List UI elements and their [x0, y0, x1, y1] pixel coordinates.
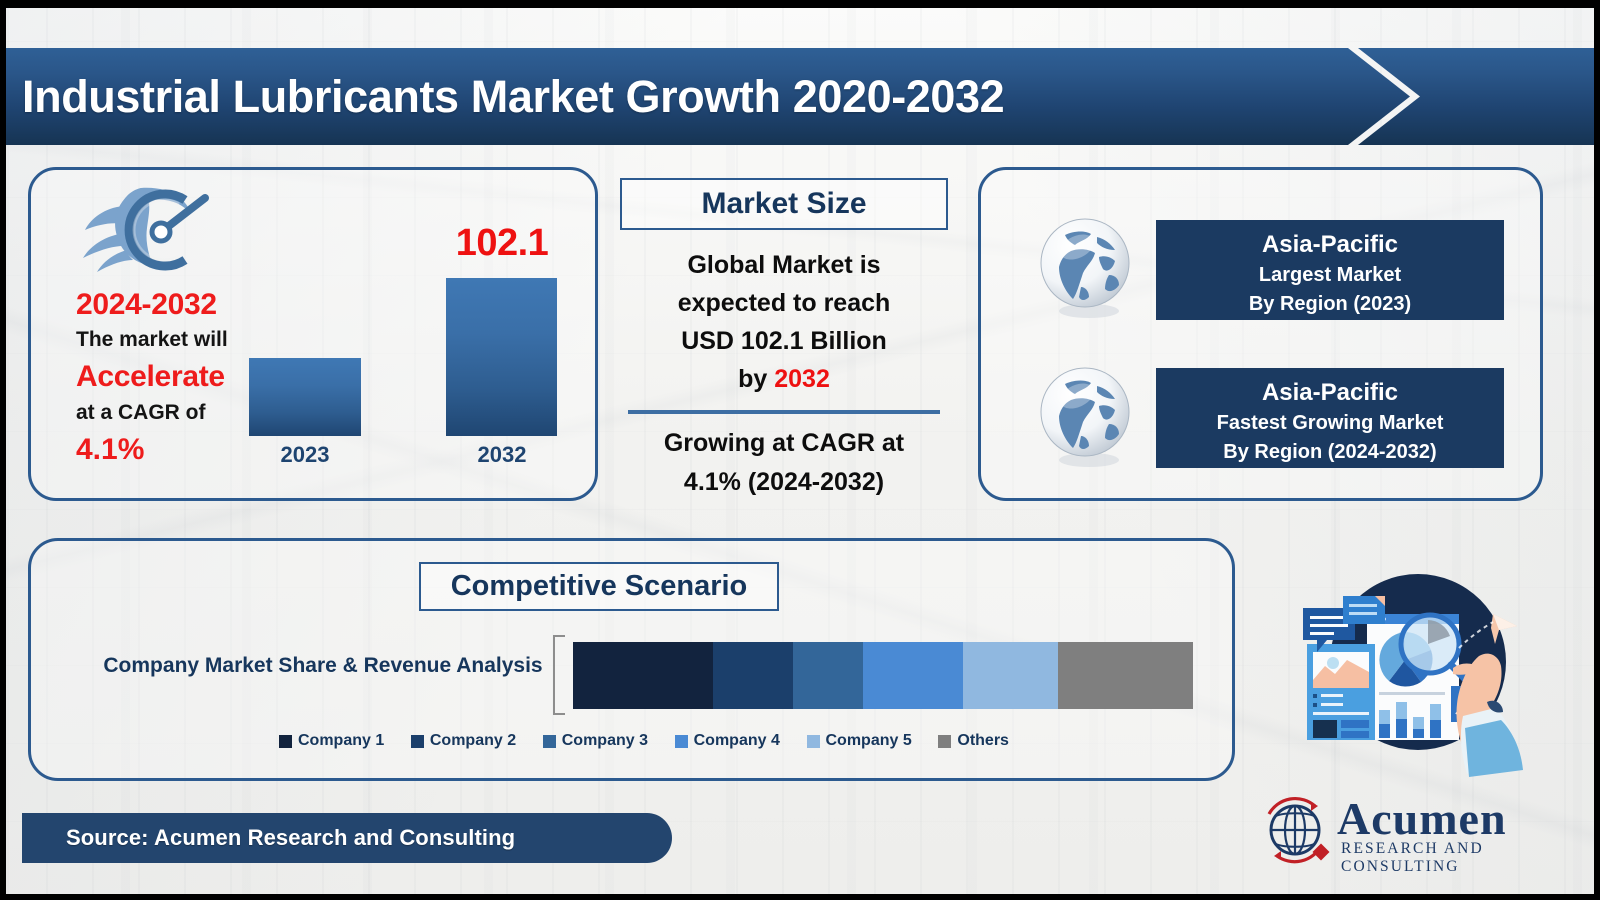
market-size-by-prefix: by	[738, 365, 774, 393]
legend-item: Company 5	[807, 732, 912, 750]
market-size-title-box: Market Size	[620, 178, 948, 230]
region-band-largest: Asia-Pacific Largest Market By Region (2…	[1156, 220, 1504, 320]
growth-cagr-value: 4.1%	[76, 433, 144, 467]
market-size-body: Global Market is expected to reach USD 1…	[620, 246, 948, 398]
market-size-divider	[628, 410, 940, 414]
bar-label-2023: 2023	[246, 442, 364, 468]
legend-item: Others	[938, 732, 1009, 750]
market-share-stacked-bar	[573, 642, 1193, 709]
infographic-root: Industrial Lubricants Market Growth 2020…	[0, 0, 1600, 900]
stack-segment-4	[863, 642, 963, 709]
globe-icon	[1031, 213, 1143, 325]
bar-label-2032: 2032	[443, 442, 561, 468]
stack-segment-2	[713, 642, 793, 709]
page-title: Industrial Lubricants Market Growth 2020…	[22, 48, 1004, 145]
legend-item: Company 2	[411, 732, 516, 750]
frame-left	[0, 0, 6, 900]
legend-swatch-icon	[807, 735, 820, 748]
legend-label: Company 5	[826, 732, 912, 750]
bar-value-2032: 102.1	[423, 222, 581, 265]
region-sub2: By Region (2024-2032)	[1156, 438, 1504, 467]
bracket-icon	[553, 635, 565, 715]
region-band-fastest: Asia-Pacific Fastest Growing Market By R…	[1156, 368, 1504, 468]
header-banner: Industrial Lubricants Market Growth 2020…	[0, 48, 1600, 145]
acumen-tagline: RESEARCH AND CONSULTING	[1341, 840, 1555, 876]
legend-label: Company 2	[430, 732, 516, 750]
stack-segment-5	[963, 642, 1058, 709]
speedometer-icon	[79, 184, 229, 274]
growth-market-will: The market will	[76, 328, 228, 352]
market-size-title: Market Size	[701, 187, 866, 221]
competitive-title: Competitive Scenario	[451, 570, 748, 603]
source-text: Source: Acumen Research and Consulting	[66, 825, 515, 851]
growth-card: 2024-2032 The market will Accelerate at …	[28, 167, 598, 501]
region-sub1: Largest Market	[1156, 261, 1504, 290]
frame-top	[0, 0, 1600, 8]
bar-2023	[249, 358, 361, 436]
legend-swatch-icon	[543, 735, 556, 748]
legend-item: Company 1	[279, 732, 384, 750]
market-share-legend: Company 1Company 2Company 3Company 4Comp…	[279, 732, 1009, 750]
legend-label: Company 3	[562, 732, 648, 750]
competitive-title-box: Competitive Scenario	[419, 562, 779, 611]
market-size-value: USD 102.1 Billion	[620, 322, 948, 360]
market-size-line2: expected to reach	[620, 284, 948, 322]
legend-swatch-icon	[938, 735, 951, 748]
acumen-wordmark: Acumen	[1337, 792, 1507, 845]
market-size-line1: Global Market is	[620, 246, 948, 284]
stack-segment-3	[793, 642, 863, 709]
region-card: Asia-Pacific Largest Market By Region (2…	[978, 167, 1543, 501]
legend-swatch-icon	[279, 735, 292, 748]
legend-item: Company 3	[543, 732, 648, 750]
market-size-growth-line: Growing at CAGR at	[620, 424, 948, 463]
market-size-block: Market Size Global Market is expected to…	[620, 178, 950, 502]
region-sub1: Fastest Growing Market	[1156, 409, 1504, 438]
frame-right	[1594, 0, 1600, 900]
source-banner: Source: Acumen Research and Consulting	[22, 813, 672, 863]
bar-2032	[446, 278, 557, 436]
market-size-growth-value: 4.1% (2024-2032)	[620, 463, 948, 502]
legend-label: Others	[957, 732, 1009, 750]
legend-label: Company 4	[694, 732, 780, 750]
market-size-by-line: by 2032	[620, 360, 948, 398]
legend-label: Company 1	[298, 732, 384, 750]
stack-segment-6	[1058, 642, 1193, 709]
globe-icon	[1031, 362, 1143, 474]
stack-segment-1	[573, 642, 713, 709]
legend-item: Company 4	[675, 732, 780, 750]
legend-swatch-icon	[411, 735, 424, 748]
legend-swatch-icon	[675, 735, 688, 748]
frame-bottom	[0, 894, 1600, 900]
growth-accelerate: Accelerate	[76, 360, 225, 394]
growth-period: 2024-2032	[76, 288, 217, 322]
acumen-globe-icon	[1255, 792, 1335, 872]
market-analysis-illustration	[1255, 562, 1545, 777]
market-size-by-year: 2032	[774, 365, 830, 393]
region-name: Asia-Pacific	[1156, 229, 1504, 261]
competitive-subtitle: Company Market Share & Revenue Analysis	[93, 654, 553, 678]
acumen-logo: Acumen RESEARCH AND CONSULTING	[1255, 788, 1555, 870]
region-sub2: By Region (2023)	[1156, 290, 1504, 319]
region-name: Asia-Pacific	[1156, 377, 1504, 409]
market-size-footer: Growing at CAGR at 4.1% (2024-2032)	[620, 424, 948, 502]
competitive-card: Competitive Scenario Company Market Shar…	[28, 538, 1235, 781]
growth-cagr-of: at a CAGR of	[76, 401, 206, 425]
